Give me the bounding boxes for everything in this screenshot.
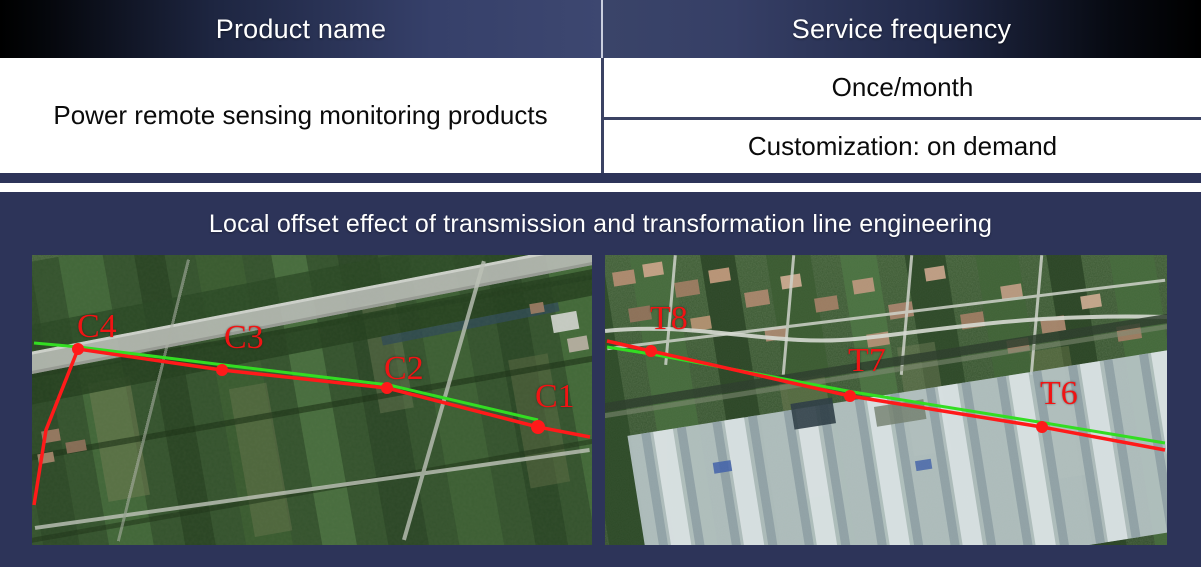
satellite-image-right: T8 T7 T6 (605, 255, 1167, 545)
slide-root: Product name Service frequency Power rem… (0, 0, 1201, 567)
tower-point-c4 (72, 343, 84, 355)
satellite-left-canvas (32, 255, 592, 545)
tower-point-t7 (844, 390, 856, 402)
table-body: Power remote sensing monitoring products… (0, 58, 1201, 173)
satellite-image-left: C4 C3 C2 C1 (32, 255, 592, 545)
tower-point-c3 (216, 364, 228, 376)
header-product-name: Product name (0, 0, 602, 58)
tower-point-c1 (531, 420, 545, 434)
satellite-right-canvas (605, 255, 1167, 545)
tower-point-c2 (381, 382, 393, 394)
panel-title: Local offset effect of transmission and … (0, 210, 1201, 239)
table-header-row: Product name Service frequency (0, 0, 1201, 58)
tower-point-t6 (1036, 421, 1048, 433)
tower-point-t8 (645, 345, 657, 357)
cell-product-name: Power remote sensing monitoring products (0, 58, 601, 173)
header-service-frequency: Service frequency (602, 0, 1201, 58)
section-gap (0, 183, 1201, 192)
header-column-divider (601, 0, 603, 58)
cell-frequency-primary: Once/month (604, 58, 1201, 117)
figure-panel: Local offset effect of transmission and … (0, 192, 1201, 567)
cell-frequency-secondary: Customization: on demand (604, 120, 1201, 173)
product-table: Product name Service frequency Power rem… (0, 0, 1201, 173)
table-bottom-rule (0, 173, 1201, 183)
